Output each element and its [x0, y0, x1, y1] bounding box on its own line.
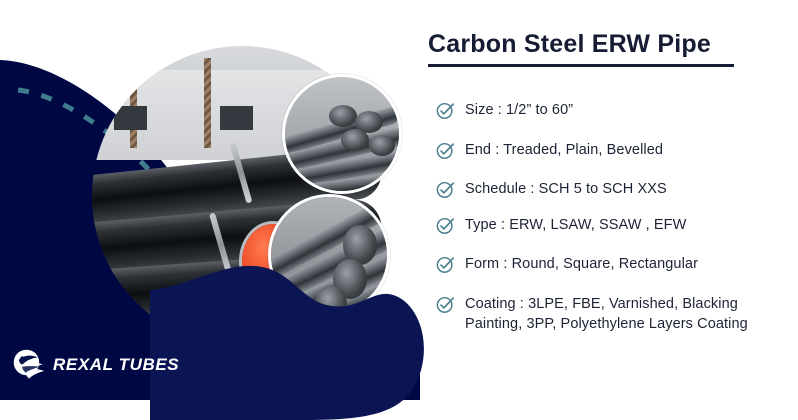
list-item-label: Schedule : SCH 5 to SCH XXS	[465, 179, 667, 200]
list-item-label: End : Treaded, Plain, Bevelled	[465, 140, 663, 161]
circle-check-icon	[436, 101, 455, 120]
page-title: Carbon Steel ERW Pipe	[428, 30, 778, 59]
eagle-swoosh-icon	[12, 348, 46, 382]
circle-check-icon	[436, 180, 455, 199]
list-item: End : Treaded, Plain, Bevelled	[436, 140, 791, 161]
list-item: Type : ERW, LSAW, SSAW , EFW	[436, 215, 791, 236]
circle-check-icon	[436, 141, 455, 160]
brand-logo[interactable]: REXAL TUBES	[12, 348, 179, 382]
title-underline	[428, 64, 734, 67]
circle-check-icon	[436, 216, 455, 235]
navy-accent-blob	[150, 250, 450, 420]
banner-canvas: REXAL TUBES Carbon Steel ERW Pipe Size :…	[0, 0, 798, 400]
list-item: Schedule : SCH 5 to SCH XXS	[436, 179, 791, 200]
list-item: Form : Round, Square, Rectangular	[436, 254, 791, 275]
list-item-label: Coating : 3LPE, FBE, Varnished, Blacking…	[465, 294, 791, 335]
list-item-label: Form : Round, Square, Rectangular	[465, 254, 698, 275]
circle-check-icon	[436, 255, 455, 274]
list-item-label: Type : ERW, LSAW, SSAW , EFW	[465, 215, 686, 236]
inset-photo-pipe-bundle	[282, 74, 402, 194]
brand-logo-text: REXAL TUBES	[53, 355, 179, 375]
list-item-label: Size : 1/2” to 60”	[465, 100, 573, 121]
circle-check-icon	[436, 295, 455, 314]
list-item: Size : 1/2” to 60”	[436, 100, 791, 121]
headline-block: Carbon Steel ERW Pipe	[428, 30, 778, 67]
specification-list: Size : 1/2” to 60” End : Treaded, Plain,…	[436, 100, 791, 354]
list-item: Coating : 3LPE, FBE, Varnished, Blacking…	[436, 294, 791, 335]
